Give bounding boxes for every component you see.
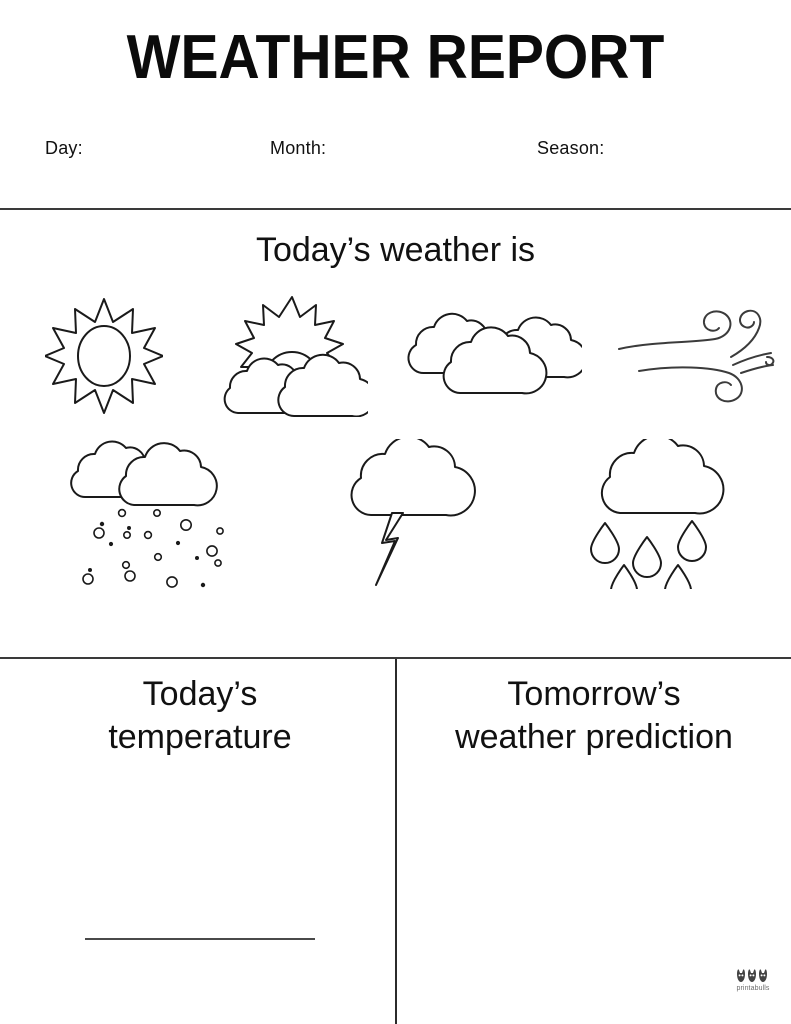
weather-option-rainy[interactable] — [530, 439, 780, 589]
tomorrows-prediction-title: Tomorrow’s weather prediction — [399, 673, 789, 759]
todays-temperature-title-line1: Today’s — [8, 673, 392, 716]
weather-icon-row-2 — [0, 439, 791, 591]
sun-behind-cloud-icon — [216, 295, 368, 417]
day-label: Day: — [45, 136, 83, 160]
weather-icon-row-1 — [0, 295, 791, 417]
weather-option-snowy[interactable] — [28, 439, 280, 591]
lightning-cloud-icon — [329, 439, 481, 589]
todays-temperature-title-line2: temperature — [8, 716, 392, 759]
month-label: Month: — [270, 136, 326, 160]
temperature-answer-line[interactable] — [85, 938, 315, 940]
todays-temperature-title: Today’s temperature — [8, 673, 392, 759]
panels-vertical-divider — [395, 659, 397, 1024]
wind-icon — [615, 295, 775, 405]
watermark-label: printabulls — [729, 985, 777, 993]
page-title: WEATHER REPORT — [32, 22, 760, 94]
snow-cloud-icon — [64, 439, 244, 591]
weather-option-cloudy[interactable] — [387, 295, 597, 395]
watermark: printabulls — [729, 968, 777, 1004]
clouds-icon — [402, 295, 582, 395]
meta-fields-row: Day: Month: Season: — [0, 136, 791, 164]
tomorrows-prediction-title-line2: weather prediction — [399, 716, 789, 759]
worksheet-page: WEATHER REPORT Day: Month: Season: Today… — [0, 0, 791, 1024]
weather-icon-grid — [0, 295, 791, 591]
season-label: Season: — [537, 136, 604, 160]
sun-icon — [45, 295, 163, 417]
tomorrows-prediction-title-line1: Tomorrow’s — [399, 673, 789, 716]
weather-option-windy[interactable] — [597, 295, 791, 405]
todays-weather-heading: Today’s weather is — [0, 228, 791, 272]
rain-cloud-icon — [580, 439, 730, 589]
weather-option-stormy[interactable] — [280, 439, 530, 589]
weather-option-sunny[interactable] — [11, 295, 197, 417]
printabulls-logo-icon — [735, 968, 771, 984]
weather-option-partly-sunny[interactable] — [197, 295, 387, 417]
header-divider — [0, 208, 791, 210]
